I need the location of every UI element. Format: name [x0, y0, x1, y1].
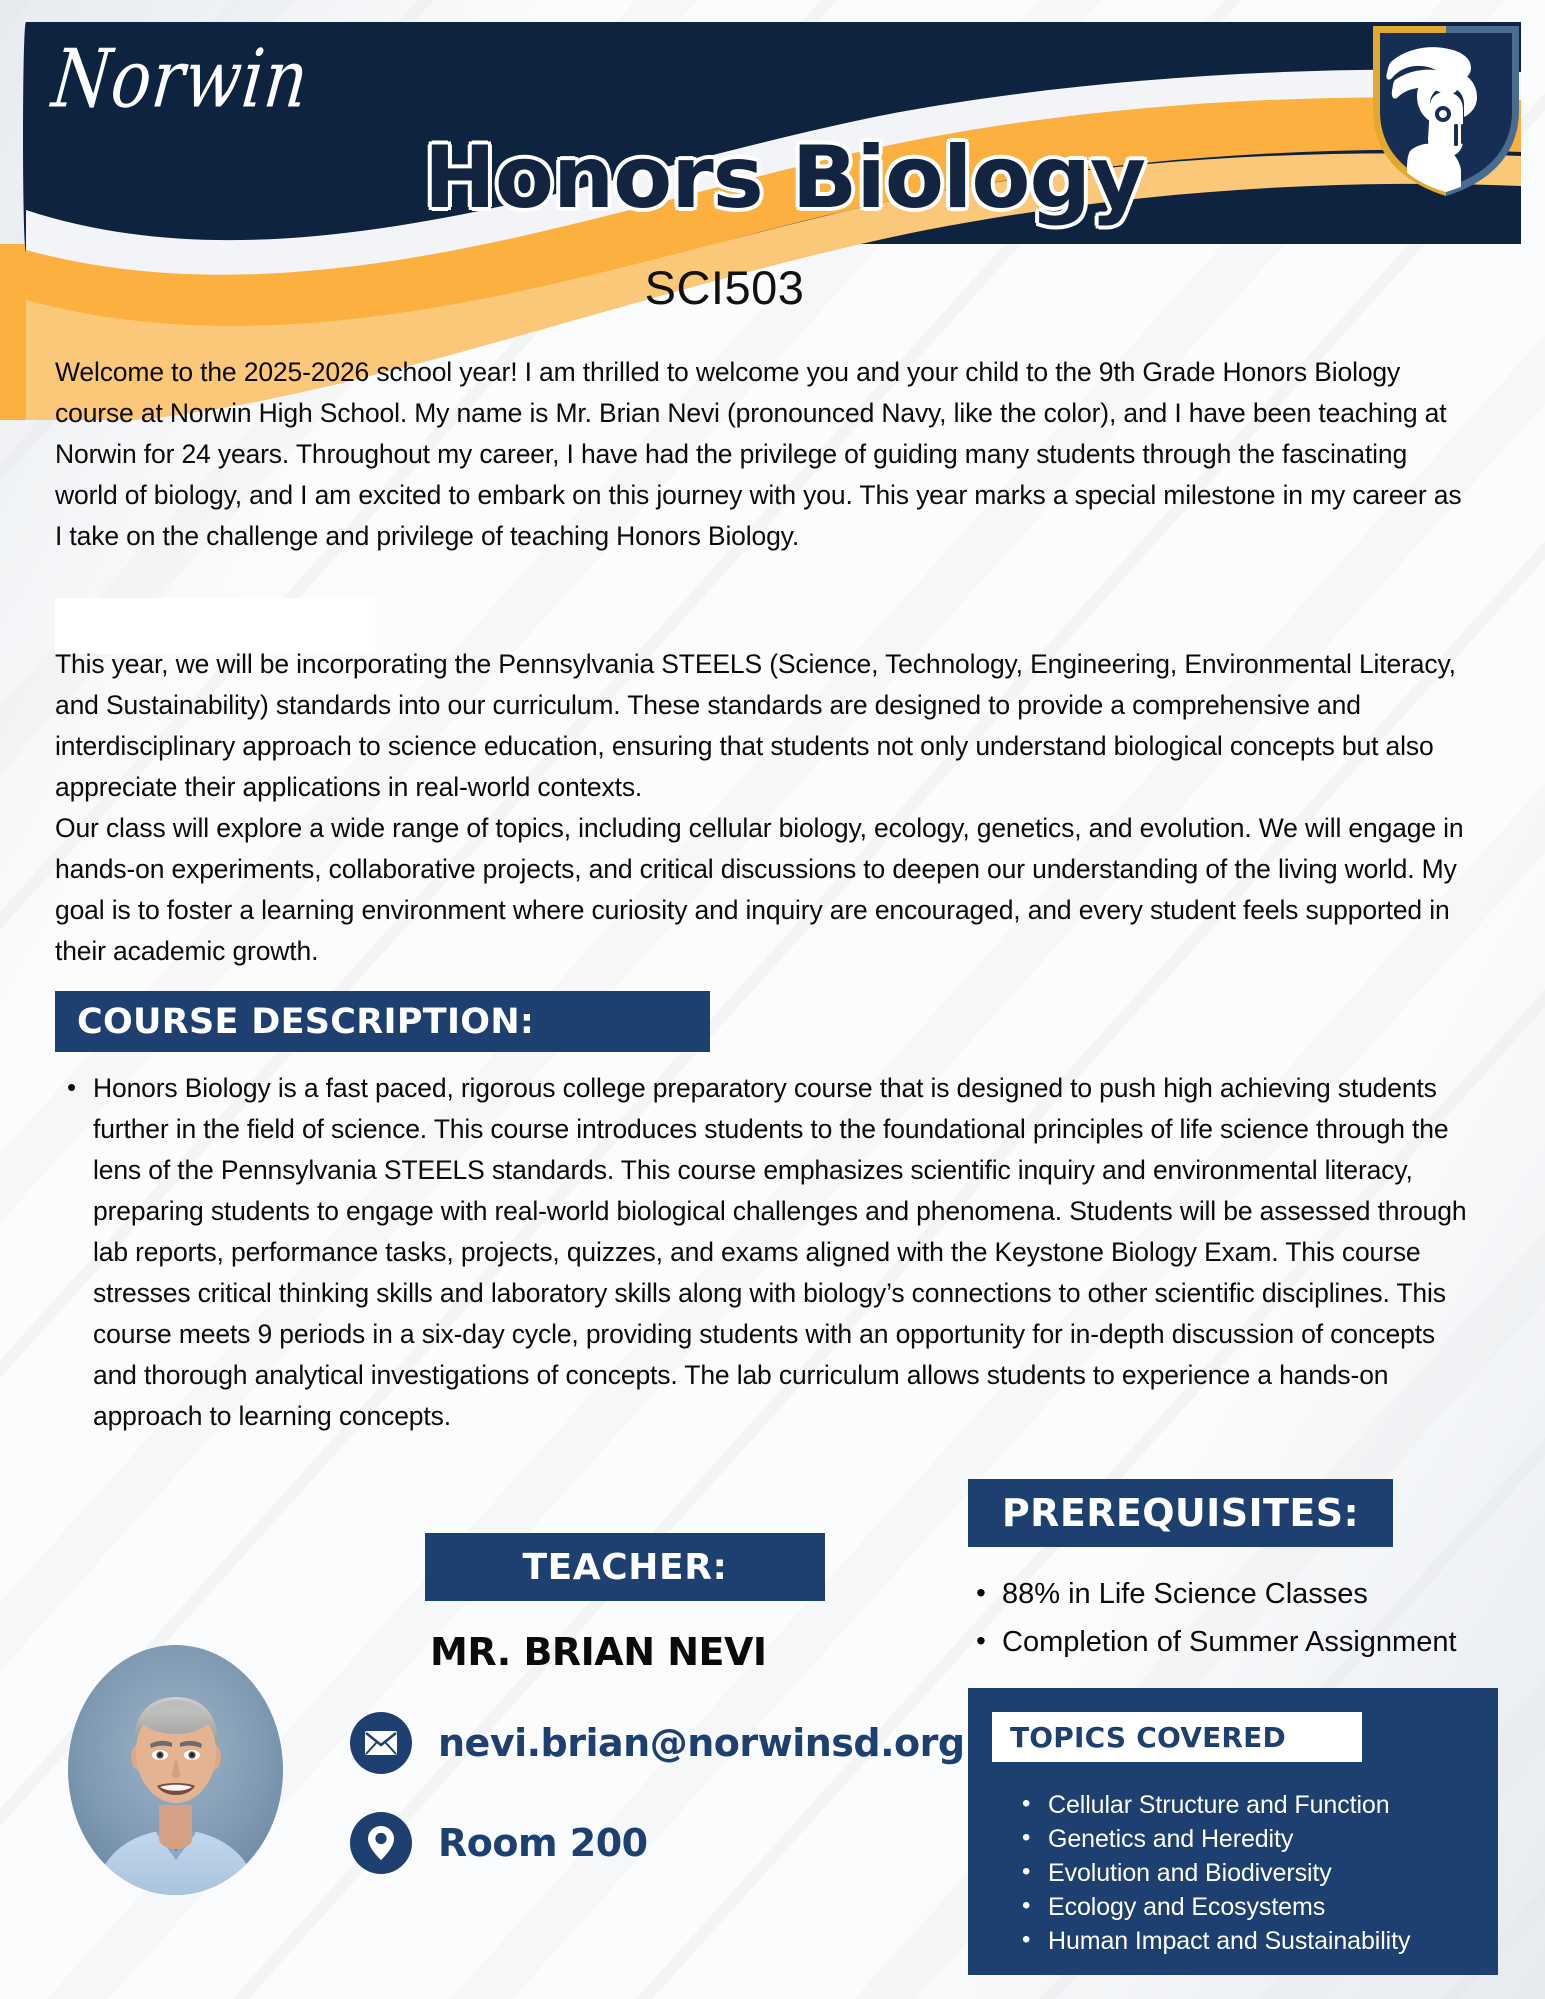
topics-covered-list: Cellular Structure and Function Genetics…	[1014, 1788, 1410, 1958]
teacher-room-row: Room 200	[350, 1812, 648, 1874]
course-description-body: Honors Biology is a fast paced, rigorous…	[55, 1068, 1475, 1437]
course-description-list: Honors Biology is a fast paced, rigorous…	[55, 1068, 1475, 1437]
intro-paragraph-3: Our class will explore a wide range of t…	[55, 808, 1485, 972]
norwin-knight-shield-icon	[1371, 18, 1521, 196]
teacher-heading: TEACHER:	[425, 1533, 825, 1601]
list-item: Human Impact and Sustainability	[1014, 1924, 1410, 1958]
topics-covered-box: TOPICS COVERED Cellular Structure and Fu…	[968, 1688, 1498, 1975]
list-item: 88% in Life Science Classes	[968, 1570, 1528, 1618]
list-item: Evolution and Biodiversity	[1014, 1856, 1410, 1890]
teacher-portrait	[68, 1645, 283, 1895]
teacher-name: MR. BRIAN NEVI	[430, 1630, 767, 1674]
course-code: SCI503	[0, 260, 1545, 315]
map-pin-icon	[350, 1812, 412, 1874]
norwin-script-logo: Norwin	[48, 32, 313, 126]
list-item: Completion of Summer Assignment	[968, 1618, 1528, 1666]
list-item: Ecology and Ecosystems	[1014, 1890, 1410, 1924]
teacher-room: Room 200	[438, 1821, 648, 1865]
list-item: Honors Biology is a fast paced, rigorous…	[55, 1068, 1475, 1437]
page-canvas: Norwin Honors Biology SCI503	[0, 0, 1545, 1999]
list-item: Cellular Structure and Function	[1014, 1788, 1410, 1822]
course-description-heading: COURSE DESCRIPTION:	[55, 991, 710, 1052]
teacher-email-row[interactable]: nevi.brian@norwinsd.org	[350, 1712, 965, 1774]
header-banner: Norwin	[26, 22, 1521, 244]
list-item: Genetics and Heredity	[1014, 1822, 1410, 1856]
teacher-email[interactable]: nevi.brian@norwinsd.org	[438, 1721, 965, 1765]
intro-paragraph-1: Welcome to the 2025-2026 school year! I …	[55, 352, 1475, 557]
prerequisites-list: 88% in Life Science Classes Completion o…	[968, 1570, 1528, 1666]
intro-paragraph-2: This year, we will be incorporating the …	[55, 644, 1475, 808]
header-clip: Norwin	[26, 22, 1521, 244]
envelope-icon	[350, 1712, 412, 1774]
prerequisites-heading: PREREQUISITES:	[968, 1479, 1393, 1547]
topics-covered-heading: TOPICS COVERED	[992, 1712, 1362, 1762]
